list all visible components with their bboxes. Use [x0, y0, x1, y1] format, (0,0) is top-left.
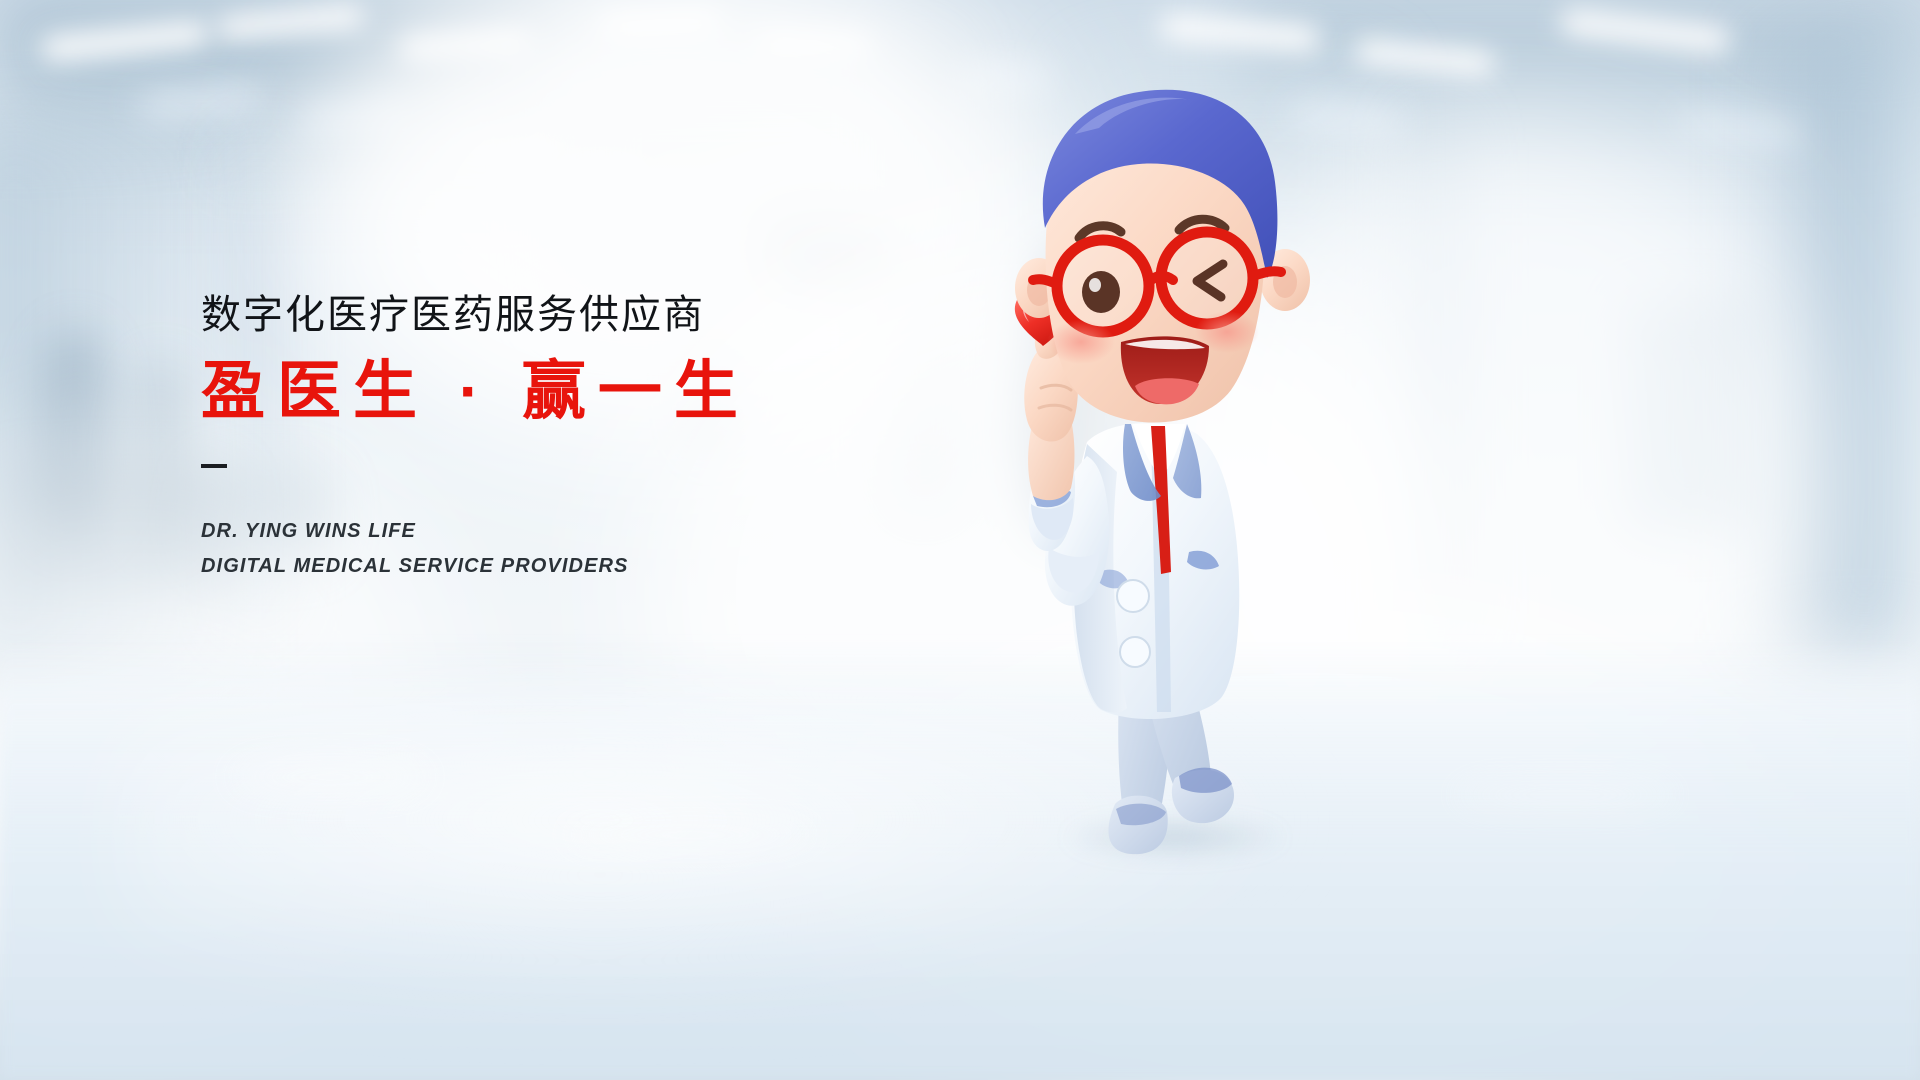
left-blush — [1047, 320, 1115, 364]
doctor-mascot — [975, 52, 1395, 852]
hero-copy: 数字化医疗医药服务供应商 盈医生 · 赢一生 DR. YING WINS LIF… — [201, 292, 961, 584]
floor-reflection — [1450, 780, 1680, 810]
floor-reflection — [230, 760, 430, 794]
left-eye — [1082, 271, 1120, 313]
left-eye-highlight — [1089, 278, 1101, 292]
right-temple-arm — [1253, 271, 1281, 276]
subtitle-line-1: DR. YING WINS LIFE — [201, 514, 961, 549]
hero-subtitle: DR. YING WINS LIFE DIGITAL MEDICAL SERVI… — [201, 514, 961, 584]
hero-banner: 数字化医疗医药服务供应商 盈医生 · 赢一生 DR. YING WINS LIF… — [0, 0, 1920, 1080]
floor-reflection — [560, 820, 820, 850]
left-temple-arm — [1033, 279, 1057, 284]
hero-title: 盈医生 · 赢一生 — [201, 354, 961, 430]
hero-headline: 数字化医疗医药服务供应商 — [201, 292, 961, 338]
subtitle-line-2: DIGITAL MEDICAL SERVICE PROVIDERS — [201, 549, 961, 584]
title-divider — [201, 464, 227, 468]
